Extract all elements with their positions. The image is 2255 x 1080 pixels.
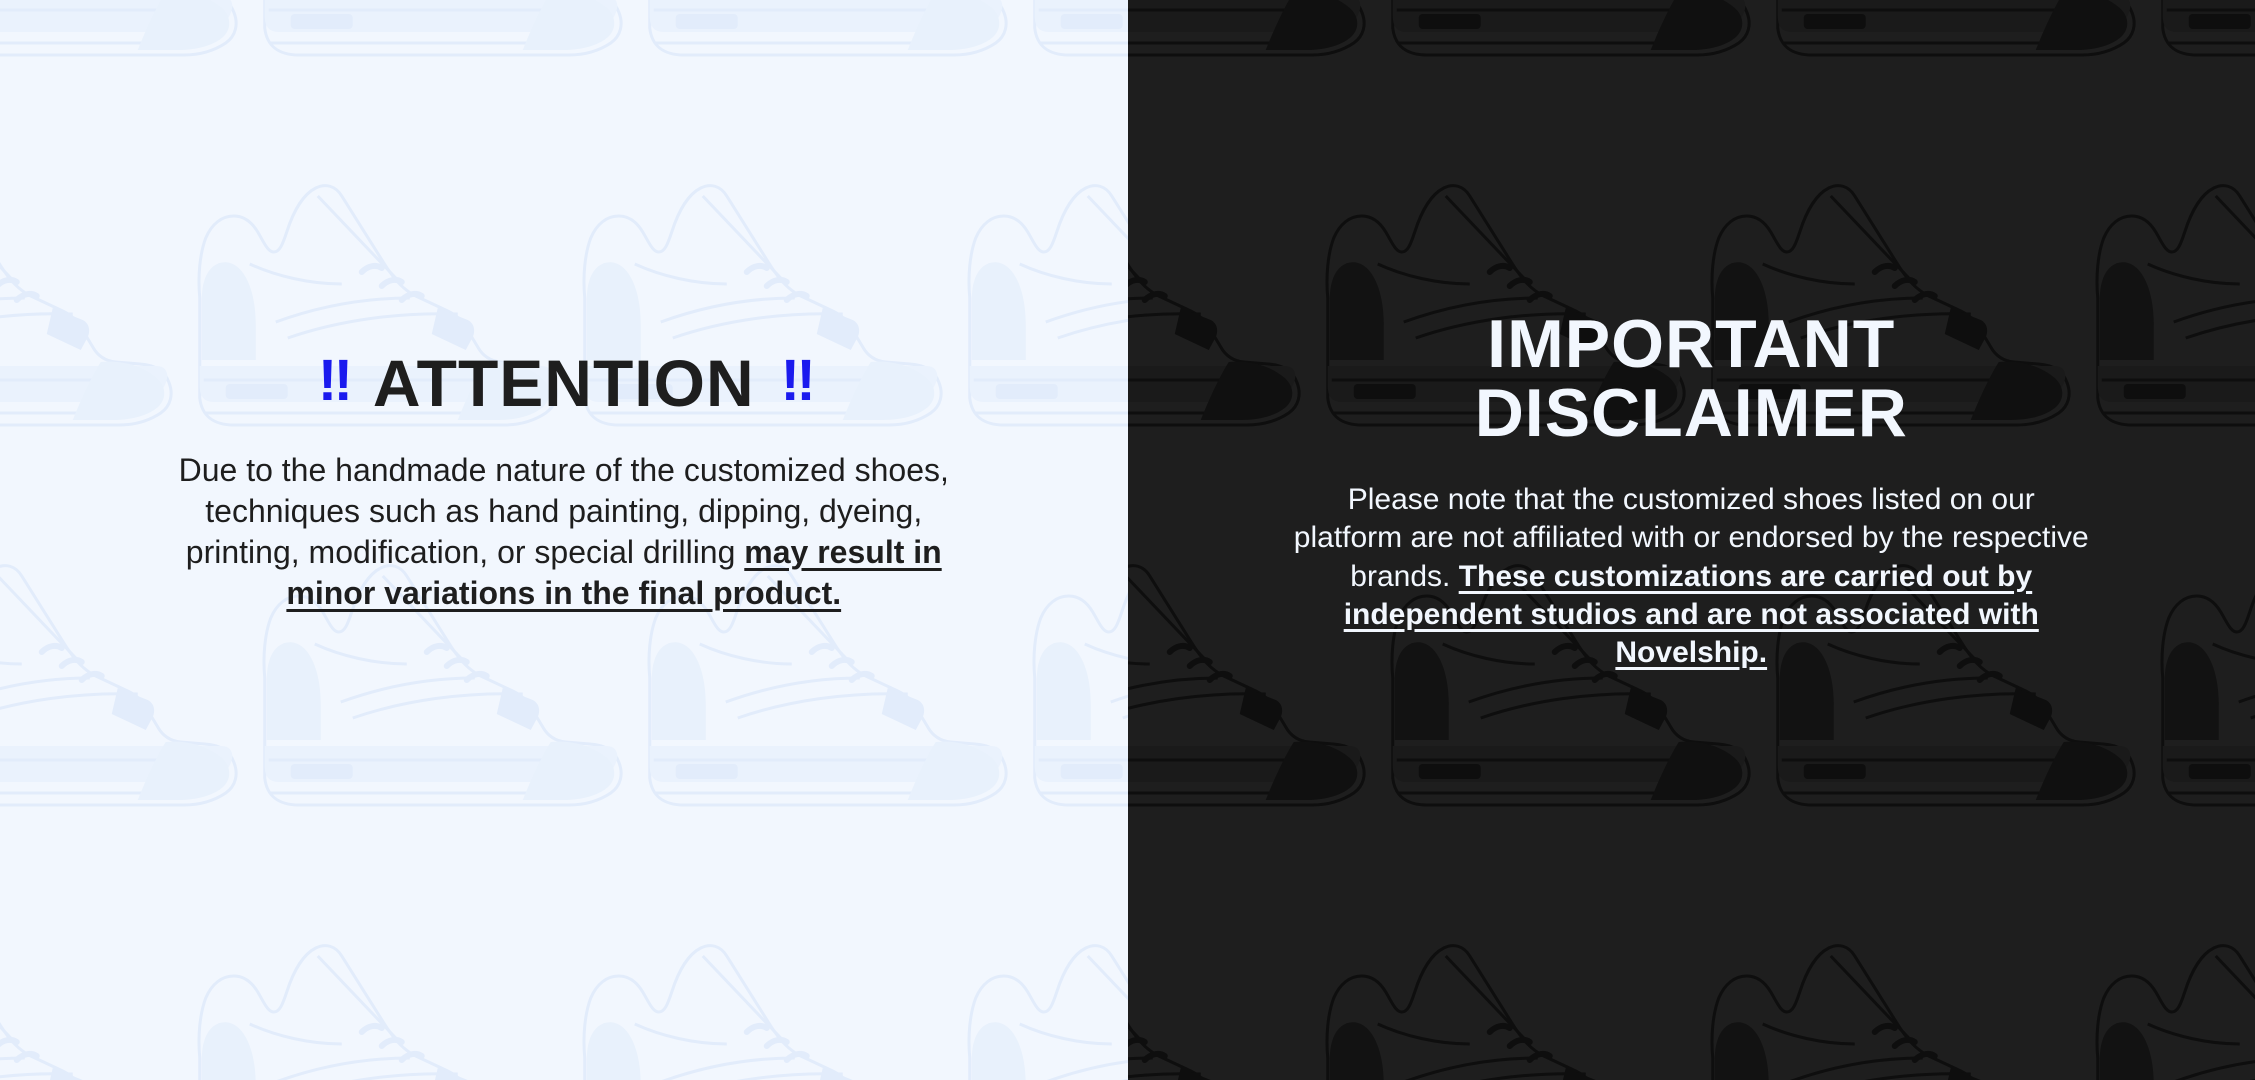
double-exclamation-icon-left: ‼ <box>318 352 347 410</box>
double-exclamation-icon-right: ‼ <box>781 352 810 410</box>
disclaimer-heading: IMPORTANT DISCLAIMER <box>1311 310 2071 449</box>
disclaimer-panel: IMPORTANT DISCLAIMER Please note that th… <box>1128 0 2255 1080</box>
attention-heading-text: ATTENTION <box>373 350 755 416</box>
disclaimer-banner: ‼ ATTENTION ‼ Due to the handmade nature… <box>0 0 2255 1080</box>
attention-panel: ‼ ATTENTION ‼ Due to the handmade nature… <box>0 0 1128 1080</box>
attention-content: ‼ ATTENTION ‼ Due to the handmade nature… <box>0 0 1128 614</box>
attention-heading: ‼ ATTENTION ‼ <box>318 350 810 416</box>
disclaimer-body: Please note that the customized shoes li… <box>1291 481 2091 673</box>
disclaimer-content: IMPORTANT DISCLAIMER Please note that th… <box>1128 0 2255 673</box>
attention-body: Due to the handmade nature of the custom… <box>169 450 959 614</box>
